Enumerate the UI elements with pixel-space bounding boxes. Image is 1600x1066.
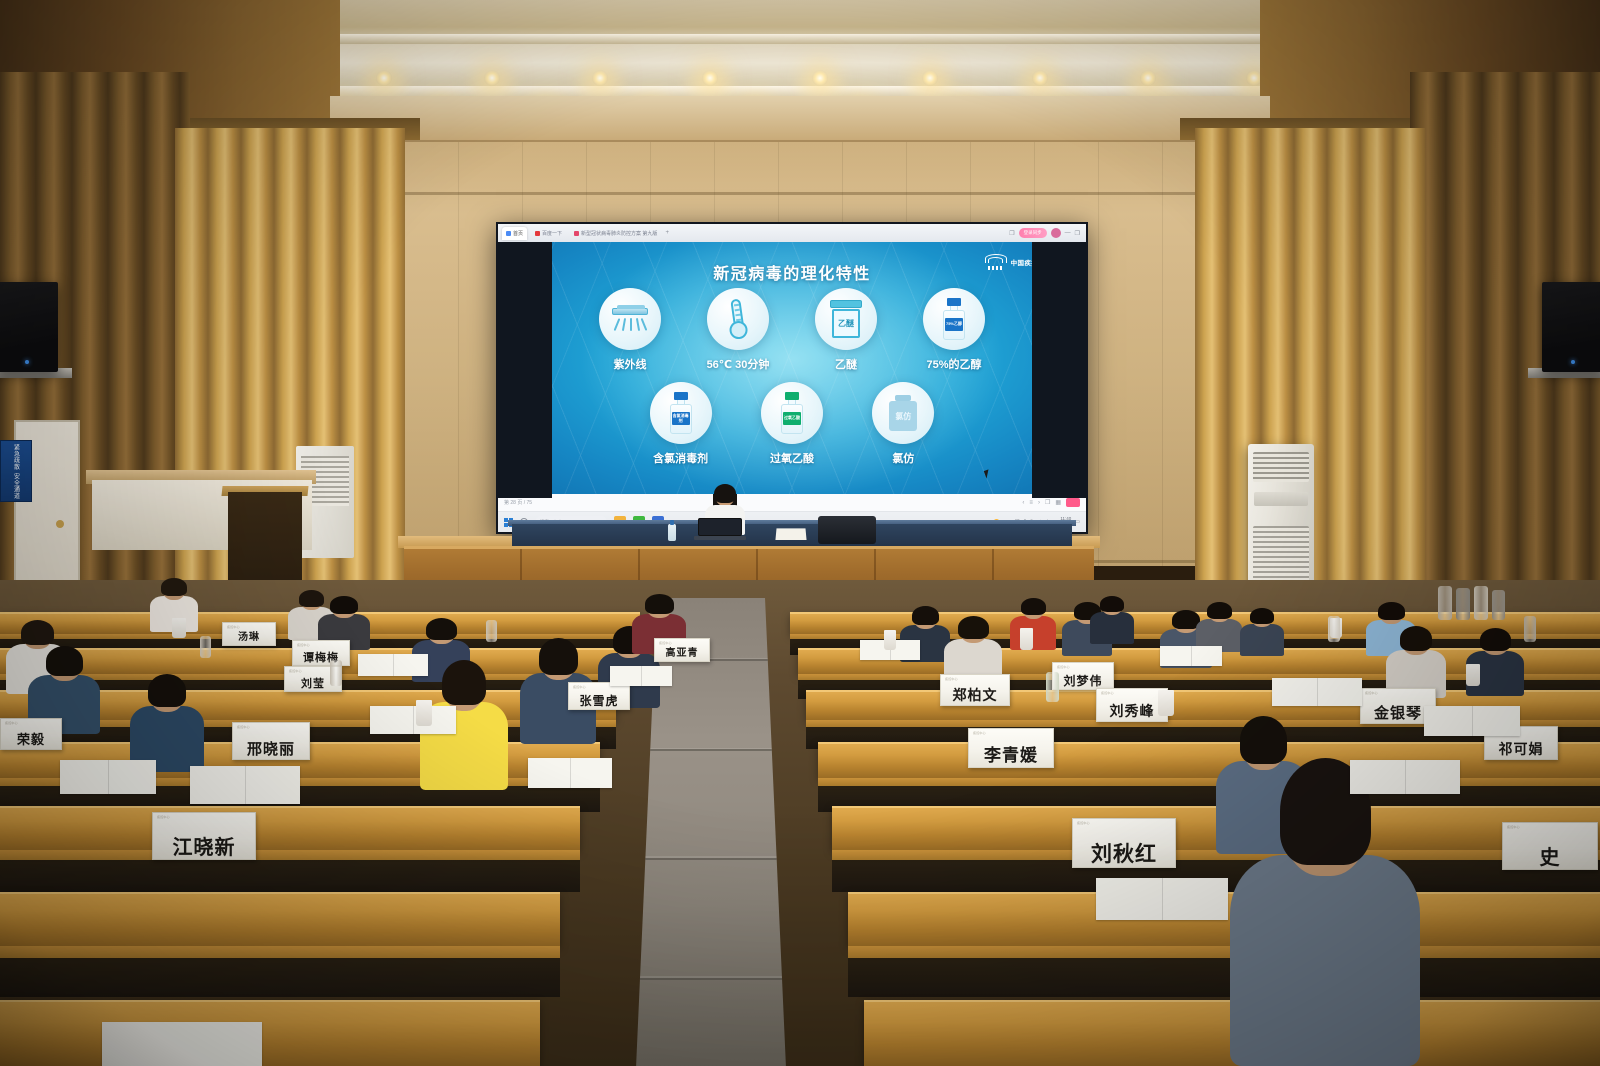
slide-item-peracetic: 过氧乙酸 过氧乙酸 <box>749 382 834 466</box>
notebook <box>610 666 672 686</box>
minimize-icon[interactable]: — <box>1065 230 1071 236</box>
chlorine-disinfectant-bottle-icon: 含氯消毒剂 <box>650 382 712 444</box>
two-page-icon[interactable]: ▦ <box>1055 499 1061 506</box>
nameplate-name: 刘莹 <box>301 678 325 691</box>
ceiling-downlight <box>376 70 392 86</box>
person-hair <box>1400 626 1432 651</box>
nameplate-logo: 疾控中心 <box>237 725 250 729</box>
person-hair <box>1378 602 1405 620</box>
paper-cup <box>1158 690 1174 716</box>
audience-member <box>1090 598 1134 644</box>
notebook <box>358 654 428 676</box>
person-hair <box>148 674 186 707</box>
audience-desk[interactable] <box>0 892 560 946</box>
desk-front-lip <box>818 778 1600 786</box>
nameplate-name: 刘秀峰 <box>1110 705 1155 721</box>
bottle-label: 含氯消毒剂 <box>672 412 690 425</box>
door-knob[interactable] <box>56 520 64 528</box>
wall-speaker-right <box>1542 282 1600 372</box>
browser-tab-2[interactable]: 新型冠状病毒肺炎防控方案 第九版 <box>570 227 661 240</box>
nameplate-logo: 疾控中心 <box>1077 821 1090 825</box>
nameplate-logo: 疾控中心 <box>1101 691 1114 695</box>
reader-controls: ‹ ≡ › ❐ ▦ <box>1022 498 1080 507</box>
desk-front-lip <box>0 850 580 860</box>
desk-nameplate: 疾控中心刘秋红 <box>1072 818 1176 868</box>
desk-nameplate: 疾控中心刘梦伟 <box>1052 662 1114 690</box>
audience-member <box>1196 604 1242 652</box>
nameplate-logo: 疾控中心 <box>297 643 310 647</box>
thermometer-icon <box>707 288 769 350</box>
audience-member <box>1010 600 1056 650</box>
emergency-exit-sign: 紧急疏散 安全通道 <box>0 440 32 502</box>
new-tab-button[interactable]: + <box>665 230 669 236</box>
presentation-slide: 新冠病毒的理化特性 中国疾控中心 <box>498 242 1086 498</box>
collections-icon[interactable]: ❐ <box>1009 230 1014 237</box>
wall-speaker-left <box>0 282 58 372</box>
notebook <box>370 706 456 734</box>
desk-nameplate: 疾控中心张雪虎 <box>568 682 630 710</box>
audience-member <box>1230 760 1420 1066</box>
audience-desk[interactable] <box>0 806 580 850</box>
stage-nameplate <box>775 528 806 540</box>
nameplate-name: 江晓新 <box>173 837 236 859</box>
fit-width-icon[interactable]: ❐ <box>1045 499 1050 506</box>
browser-tab-1[interactable]: 百度一下 <box>531 227 566 240</box>
person-hair <box>442 660 486 705</box>
paper-cup <box>172 618 186 638</box>
cdc-bars <box>988 266 1003 270</box>
slide-item-ether: 乙醚 乙醚 <box>803 288 889 372</box>
nameplate-logo: 疾控中心 <box>1365 691 1378 695</box>
nameplate-name: 金银琴 <box>1374 706 1422 723</box>
person-hair <box>1100 596 1124 612</box>
ceiling-downlight <box>1140 70 1156 86</box>
desk-nameplate: 疾控中心郑柏文 <box>940 674 1010 706</box>
person-hair <box>21 620 54 645</box>
jar-label: 乙醚 <box>838 318 854 329</box>
presenter-hair <box>714 484 736 503</box>
account-sync-pill[interactable]: 登录同步 <box>1019 228 1047 238</box>
person-hair <box>426 618 457 640</box>
browser-tab-label: 首页 <box>513 230 523 237</box>
audience-member <box>130 676 204 772</box>
slide-item-chlorine: 含氯消毒剂 含氯消毒剂 <box>638 382 723 466</box>
person-body <box>1230 855 1420 1066</box>
thermos-tumbler <box>1456 588 1470 620</box>
nameplate-name: 刘梦伟 <box>1063 675 1102 689</box>
browser-tab-label: 百度一下 <box>542 230 562 237</box>
thermos-tumbler <box>1438 586 1452 620</box>
notebook <box>528 758 612 788</box>
person-hair <box>1250 608 1274 624</box>
aisle-step <box>636 748 786 751</box>
water-bottle[interactable] <box>668 524 676 541</box>
ceiling-downlight <box>702 70 718 86</box>
notebook <box>60 760 156 794</box>
nameplate-name: 祁可娟 <box>1499 743 1544 759</box>
avatar[interactable] <box>1051 228 1061 238</box>
cdc-arc-inner <box>988 257 1003 263</box>
ether-jar-icon: 乙醚 <box>815 288 877 350</box>
ceiling-downlight <box>484 70 500 86</box>
desk-nameplate: 疾控中心高亚青 <box>654 638 710 662</box>
ceiling-downlight <box>812 70 828 86</box>
notebook <box>190 766 300 804</box>
notebook <box>1424 706 1520 736</box>
nameplate-name: 郑柏文 <box>953 689 998 705</box>
desk-nameplate: 疾控中心李青媛 <box>968 728 1054 768</box>
person-hair <box>958 616 989 639</box>
slide-item-label: 56℃ 30分钟 <box>707 356 770 372</box>
desk-nameplate: 疾控中心荣毅 <box>0 718 62 750</box>
nameplate-name: 张雪虎 <box>579 695 618 709</box>
person-hair <box>912 606 939 625</box>
thermos-tumbler <box>1328 616 1340 642</box>
front-wall-top-band <box>330 96 1270 142</box>
nameplate-name: 史 <box>1540 847 1561 869</box>
favicon-icon <box>506 231 511 236</box>
desk-nameplate: 疾控中心汤琳 <box>222 622 276 646</box>
cdc-emblem-icon <box>985 254 1007 270</box>
uv-lamp-icon <box>599 288 661 350</box>
bottle-label: 75%乙醇 <box>945 318 963 331</box>
person-hair <box>161 578 187 596</box>
desk-front-lip <box>0 946 560 958</box>
browser-tab-0[interactable]: 首页 <box>502 227 527 240</box>
slide-item-label: 过氧乙酸 <box>770 450 814 466</box>
favicon-icon <box>535 231 540 236</box>
notebook <box>1096 878 1228 920</box>
nameplate-logo: 疾控中心 <box>1057 665 1070 669</box>
nameplate-logo: 疾控中心 <box>157 815 170 819</box>
person-hair <box>1480 628 1511 651</box>
notebook <box>102 1022 262 1066</box>
slide-item-temperature: 56℃ 30分钟 <box>695 288 781 372</box>
desk-front-lip <box>848 946 1600 958</box>
laptop-keyboard <box>694 536 746 540</box>
browser-tab-bar: 首页 百度一下 新型冠状病毒肺炎防控方案 第九版 + ❐ 登录同步 — ❐ <box>498 224 1086 242</box>
exit-sign-line2: 安全通道 <box>12 473 21 499</box>
slide-letterbox-left <box>498 242 552 498</box>
desk-nameplate: 疾控中心江晓新 <box>152 812 256 860</box>
nameplate-name: 高亚青 <box>666 649 699 661</box>
nameplate-name: 刘秋红 <box>1091 844 1157 867</box>
thermos-tumbler <box>1492 590 1505 620</box>
next-page-icon[interactable]: › <box>1038 500 1040 506</box>
laptop-screen <box>698 518 742 536</box>
person-hair <box>539 638 578 675</box>
jar-label: 氯仿 <box>895 411 911 422</box>
slide-item-label: 含氯消毒剂 <box>653 450 708 466</box>
nameplate-logo: 疾控中心 <box>659 641 672 645</box>
thermos-tumbler <box>1474 586 1488 620</box>
paper-cup <box>1466 664 1480 686</box>
notebook <box>1350 760 1460 794</box>
paper-cup <box>416 700 432 726</box>
aisle-step <box>636 856 786 860</box>
favicon-icon <box>574 231 579 236</box>
thermos-tumbler <box>486 620 497 642</box>
nameplate-name: 荣毅 <box>17 734 45 749</box>
peracetic-acid-bottle-icon: 过氧乙酸 <box>761 382 823 444</box>
notebook <box>1160 646 1222 666</box>
audience-member <box>1240 610 1284 656</box>
nameplate-logo: 疾控中心 <box>227 625 240 629</box>
notebook <box>1272 678 1362 706</box>
slide-item-label: 紫外线 <box>614 356 647 372</box>
exit-sign-line1: 紧急疏散 <box>12 444 21 470</box>
slide-item-label: 75%的乙醇 <box>926 356 981 372</box>
browser-controls: ❐ 登录同步 — ❐ <box>1009 228 1082 238</box>
slide-item-uv: 紫外线 <box>587 288 673 372</box>
podium <box>228 492 302 590</box>
ethanol-bottle-icon: 75%乙醇 <box>923 288 985 350</box>
speaker-led-indicator <box>1571 360 1575 364</box>
slide-item-ethanol: 75%乙醇 75%的乙醇 <box>911 288 997 372</box>
nameplate-logo: 疾控中心 <box>945 677 958 681</box>
nameplate-name: 李青媛 <box>984 748 1038 767</box>
person-body <box>1240 624 1284 656</box>
slideshow-play-button[interactable] <box>1066 498 1080 507</box>
slide-icon-row-2: 含氯消毒剂 含氯消毒剂 过氧乙酸 过氧乙酸 <box>498 382 1086 466</box>
audience-desk[interactable] <box>0 1000 540 1066</box>
slide-item-label: 氯仿 <box>892 450 914 466</box>
person-hair <box>1021 598 1046 615</box>
bottle-label: 过氧乙酸 <box>783 412 801 425</box>
nameplate-logo: 疾控中心 <box>1507 825 1520 829</box>
thermos-tumbler <box>1046 672 1059 702</box>
menu-icon[interactable]: ≡ <box>1029 500 1033 506</box>
av-equipment-case <box>818 516 876 544</box>
person-hair <box>46 646 83 676</box>
thermos-tumbler <box>1524 616 1536 642</box>
wall-seam <box>330 192 1270 195</box>
person-hair <box>330 596 358 614</box>
chloroform-jar-icon: 氯仿 <box>872 382 934 444</box>
aisle-step <box>636 976 786 980</box>
audience-member <box>1466 630 1524 696</box>
audience-desk[interactable] <box>818 742 1600 778</box>
ac-vent-top <box>1253 452 1309 482</box>
slide-item-label: 乙醚 <box>835 356 857 372</box>
page-indicator: 第 28 页 / 75 <box>504 499 532 506</box>
person-body <box>1010 616 1056 650</box>
speaker-led-indicator <box>25 360 29 364</box>
slide-item-chloroform: 氯仿 氯仿 <box>861 382 946 466</box>
slide-letterbox-right <box>1032 242 1086 498</box>
person-hair <box>1207 602 1232 619</box>
nameplate-logo: 疾控中心 <box>289 669 302 673</box>
ceiling-downlight <box>1032 70 1048 86</box>
lecture-hall-scene: 紧急疏散 安全通道 首页 百度一下 新型冠状病毒肺炎防控方案 第九版 + ❐ <box>0 0 1600 1066</box>
paper-cup <box>884 630 896 650</box>
projection-screen: 首页 百度一下 新型冠状病毒肺炎防控方案 第九版 + ❐ 登录同步 — ❐ <box>496 222 1088 534</box>
prev-page-icon[interactable]: ‹ <box>1022 500 1024 506</box>
maximize-icon[interactable]: ❐ <box>1075 230 1080 237</box>
desk-nameplate: 疾控中心史 <box>1502 822 1598 870</box>
person-hair <box>1240 716 1287 764</box>
slide-icon-row-1: 紫外线 56℃ 30分钟 <box>498 288 1086 372</box>
browser-tab-label: 新型冠状病毒肺炎防控方案 第九版 <box>581 230 657 237</box>
nameplate-logo: 疾控中心 <box>973 731 986 735</box>
desk-nameplate: 疾控中心邢晓丽 <box>232 722 310 760</box>
thermos-tumbler <box>330 660 342 686</box>
paper-cup <box>1020 628 1033 650</box>
nameplate-name: 邢晓丽 <box>247 742 295 759</box>
nameplate-name: 汤琳 <box>238 633 260 645</box>
ac-control-panel[interactable] <box>1254 492 1308 506</box>
ceiling-downlight <box>592 70 608 86</box>
nameplate-logo: 疾控中心 <box>573 685 586 689</box>
nameplate-logo: 疾控中心 <box>5 721 18 725</box>
thermos-tumbler <box>200 636 211 658</box>
presenter-laptop[interactable] <box>694 518 746 540</box>
reader-status-bar: 第 28 页 / 75 ‹ ≡ › ❐ ▦ <box>498 494 1086 512</box>
person-body <box>1090 612 1134 644</box>
ceiling-downlight <box>922 70 938 86</box>
person-hair <box>645 594 674 614</box>
